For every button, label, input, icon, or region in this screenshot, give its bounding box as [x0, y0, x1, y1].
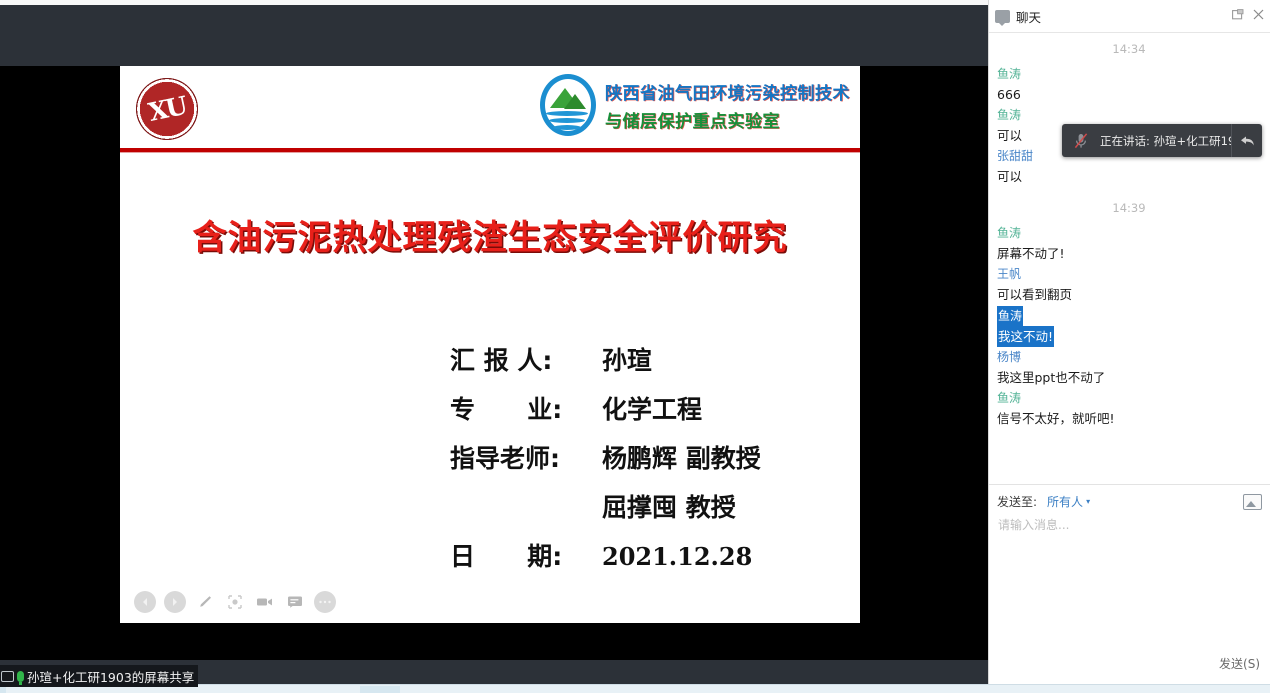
chat-timestamp: 14:39: [989, 201, 1269, 215]
taskbar-segment: [0, 686, 6, 693]
chat-compose-area: 发送至: 所有人 ▾ 请输入消息... 发送(S): [989, 484, 1270, 676]
chat-timestamp: 14:34: [989, 42, 1269, 56]
chevron-down-icon[interactable]: ▾: [1086, 497, 1090, 506]
chat-message-list[interactable]: 14:34 鱼涛 666 鱼涛 可以 张甜甜 可以 14:39 鱼涛 屏幕不动了…: [989, 34, 1269, 484]
video-icon[interactable]: [254, 591, 276, 613]
lab-badge: 陕西省油气田环境污染控制技术 与储层保护重点实验室: [537, 72, 850, 138]
pen-icon[interactable]: [194, 591, 216, 613]
chat-sender: 鱼涛: [997, 306, 1023, 326]
return-arrow-icon[interactable]: [1231, 124, 1262, 157]
chat-sender: 鱼涛: [997, 64, 1261, 84]
slide-info-block: 汇 报 人: 孙瑄 专 业: 化学工程 指导老师: 杨鹏辉 副教授 屈撑囤 教授…: [450, 341, 860, 586]
viewer-top-chrome: [0, 5, 988, 66]
screen-share-icon: [1, 671, 14, 682]
subtitles-icon[interactable]: [284, 591, 306, 613]
info-row-presenter: 汇 报 人: 孙瑄: [450, 341, 860, 377]
chat-message: 鱼涛 666: [989, 64, 1269, 105]
presentation-controls: [134, 591, 336, 613]
slide-header: XU 陕西省油气田环境污染控制技术 与储层保护重点实验室: [120, 66, 860, 148]
chat-message-selected: 鱼涛 我这不动!: [989, 305, 1269, 347]
mic-muted-icon[interactable]: [1062, 132, 1100, 150]
slide-title: 含油污泥热处理残渣生态安全评价研究: [120, 210, 860, 259]
previous-slide-icon[interactable]: [134, 591, 156, 613]
chat-message: 杨博 我这里ppt也不动了: [989, 347, 1269, 388]
info-row-date: 日 期: 2021.12.28: [450, 537, 860, 573]
recipient-selector[interactable]: 所有人: [1047, 493, 1083, 510]
info-value: 化学工程: [602, 390, 702, 426]
info-label: 专 业:: [450, 390, 602, 426]
next-slide-icon[interactable]: [164, 591, 186, 613]
lab-name: 陕西省油气田环境污染控制技术 与储层保护重点实验室: [605, 79, 850, 132]
chat-message: 王帆 可以看到翻页: [989, 264, 1269, 305]
chat-message: 鱼涛 屏幕不动了!: [989, 223, 1269, 264]
info-value: 孙瑄: [602, 341, 652, 377]
speaking-toast-text: 正在讲话: 孙瑄+化工研19...: [1100, 133, 1231, 149]
laser-pointer-icon[interactable]: [224, 591, 246, 613]
chat-message-body: 屏幕不动了!: [997, 243, 1261, 264]
chat-sender: 王帆: [997, 264, 1261, 284]
chat-message-body: 可以看到翻页: [997, 284, 1261, 305]
chat-message-body: 我这里ppt也不动了: [997, 367, 1261, 388]
info-value: 屈撑囤 教授: [602, 488, 736, 524]
speaking-notification-toast[interactable]: 正在讲话: 孙瑄+化工研19...: [1062, 124, 1262, 157]
send-button[interactable]: 发送(S): [1219, 655, 1260, 672]
send-to-label: 发送至:: [997, 493, 1037, 510]
university-logo-icon: XU: [136, 78, 198, 140]
powerpoint-slide[interactable]: XU 陕西省油气田环境污染控制技术 与储层保护重点实验室: [120, 66, 860, 623]
insert-image-icon[interactable]: [1243, 494, 1262, 510]
chat-bubble-icon: [995, 10, 1010, 23]
chat-sender: 鱼涛: [997, 223, 1261, 243]
close-icon[interactable]: [1253, 9, 1264, 23]
chat-sender: 杨博: [997, 347, 1261, 367]
chat-message-body: 我这不动!: [997, 326, 1054, 347]
chat-panel-header: 聊天: [989, 0, 1270, 33]
info-label: 汇 报 人:: [450, 341, 602, 377]
screen-root: XU 陕西省油气田环境污染控制技术 与储层保护重点实验室: [0, 0, 1270, 693]
chat-message: 鱼涛 信号不太好，就听吧!: [989, 388, 1269, 429]
microphone-icon: [17, 671, 24, 682]
info-row-advisor: 指导老师: 杨鹏辉 副教授: [450, 439, 860, 475]
taskbar-segment: [360, 686, 400, 693]
lab-name-line1: 陕西省油气田环境污染控制技术: [605, 79, 850, 104]
lab-emblem-icon: [537, 72, 599, 138]
info-label: 日 期:: [450, 537, 602, 573]
chat-recipient-row: 发送至: 所有人 ▾: [989, 485, 1270, 510]
taskbar-item-label: 孙瑄+化工研1903的屏幕共享: [27, 667, 194, 686]
info-label: 指导老师:: [450, 439, 602, 475]
chat-panel-footer-fill: [988, 676, 1270, 684]
info-value: 2021.12.28: [602, 542, 752, 571]
screen-share-viewer: XU 陕西省油气田环境污染控制技术 与储层保护重点实验室: [0, 0, 988, 660]
chat-message-body: 信号不太好，就听吧!: [997, 408, 1261, 429]
taskbar-screenshare-item[interactable]: 孙瑄+化工研1903的屏幕共享: [0, 665, 198, 687]
chat-message-body: 666: [997, 84, 1261, 105]
chat-panel-title: 聊天: [1016, 7, 1041, 26]
chat-panel: 聊天 14:34 鱼涛 6: [988, 0, 1270, 676]
info-row-advisor-2: 屈撑囤 教授: [450, 488, 860, 524]
info-row-major: 专 业: 化学工程: [450, 390, 860, 426]
info-value: 杨鹏辉 副教授: [602, 439, 761, 475]
more-options-icon[interactable]: [314, 591, 336, 613]
popout-icon[interactable]: [1232, 9, 1244, 23]
university-logo-mark: XU: [146, 91, 188, 127]
header-divider-thin: [120, 152, 860, 153]
chat-sender: 鱼涛: [997, 105, 1261, 125]
chat-message-body: 可以: [997, 166, 1261, 187]
lab-name-line2: 与储层保护重点实验室: [605, 107, 850, 132]
chat-message-input[interactable]: 请输入消息...: [989, 510, 1270, 539]
chat-sender: 鱼涛: [997, 388, 1261, 408]
